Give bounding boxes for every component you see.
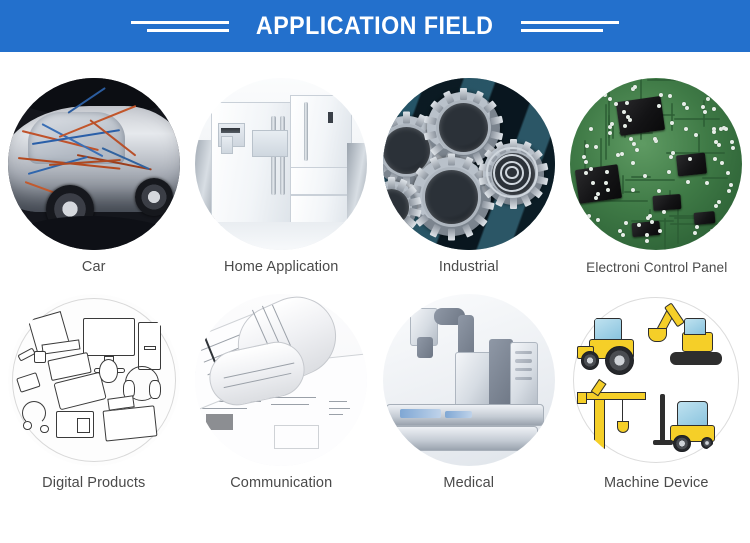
industrial-image — [383, 78, 555, 250]
digital-products-image — [8, 294, 180, 466]
banner-decoration-right-icon — [521, 21, 619, 32]
page-title: APPLICATION FIELD — [256, 12, 493, 41]
digital-products-line-art-illustration — [8, 294, 180, 466]
application-item-communication[interactable]: Communication — [188, 294, 376, 510]
application-item-digital-products[interactable]: Digital Products — [0, 294, 188, 510]
caption-medical: Medical — [443, 475, 494, 491]
caption-car: Car — [82, 259, 106, 275]
car-image — [8, 78, 180, 250]
blueprint-drawings-illustration — [195, 294, 367, 466]
application-item-car[interactable]: Car — [0, 78, 188, 294]
application-item-electroni-control-panel[interactable]: Electroni Control Panel — [563, 78, 750, 294]
communication-image — [195, 294, 367, 466]
medical-image — [383, 294, 555, 466]
caption-industrial: Industrial — [439, 259, 499, 275]
banner-decoration-left-icon — [131, 21, 229, 32]
home-application-image — [195, 78, 367, 250]
caption-communication: Communication — [230, 475, 332, 491]
caption-home-application: Home Application — [224, 259, 338, 275]
application-item-machine-device[interactable]: Machine Device — [563, 294, 750, 510]
application-item-industrial[interactable]: Industrial — [375, 78, 563, 294]
gears-machinery-illustration — [383, 78, 555, 250]
electroni-control-panel-image — [570, 78, 742, 250]
construction-vehicles-illustration — [570, 294, 742, 466]
caption-electroni-control-panel: Electroni Control Panel — [586, 259, 727, 275]
application-field-grid: Car Home Applicati — [0, 52, 750, 510]
refrigerator-appliances-illustration — [195, 78, 367, 250]
car-wiring-harness-illustration — [8, 78, 180, 250]
caption-machine-device: Machine Device — [604, 475, 709, 491]
application-item-home-application[interactable]: Home Application — [188, 78, 376, 294]
caption-digital-products: Digital Products — [42, 475, 145, 491]
machine-device-image — [570, 294, 742, 466]
pcb-circuit-board-illustration — [570, 78, 742, 250]
application-field-banner: APPLICATION FIELD — [0, 0, 750, 52]
xray-imaging-machine-illustration — [383, 294, 555, 466]
application-item-medical[interactable]: Medical — [375, 294, 563, 510]
